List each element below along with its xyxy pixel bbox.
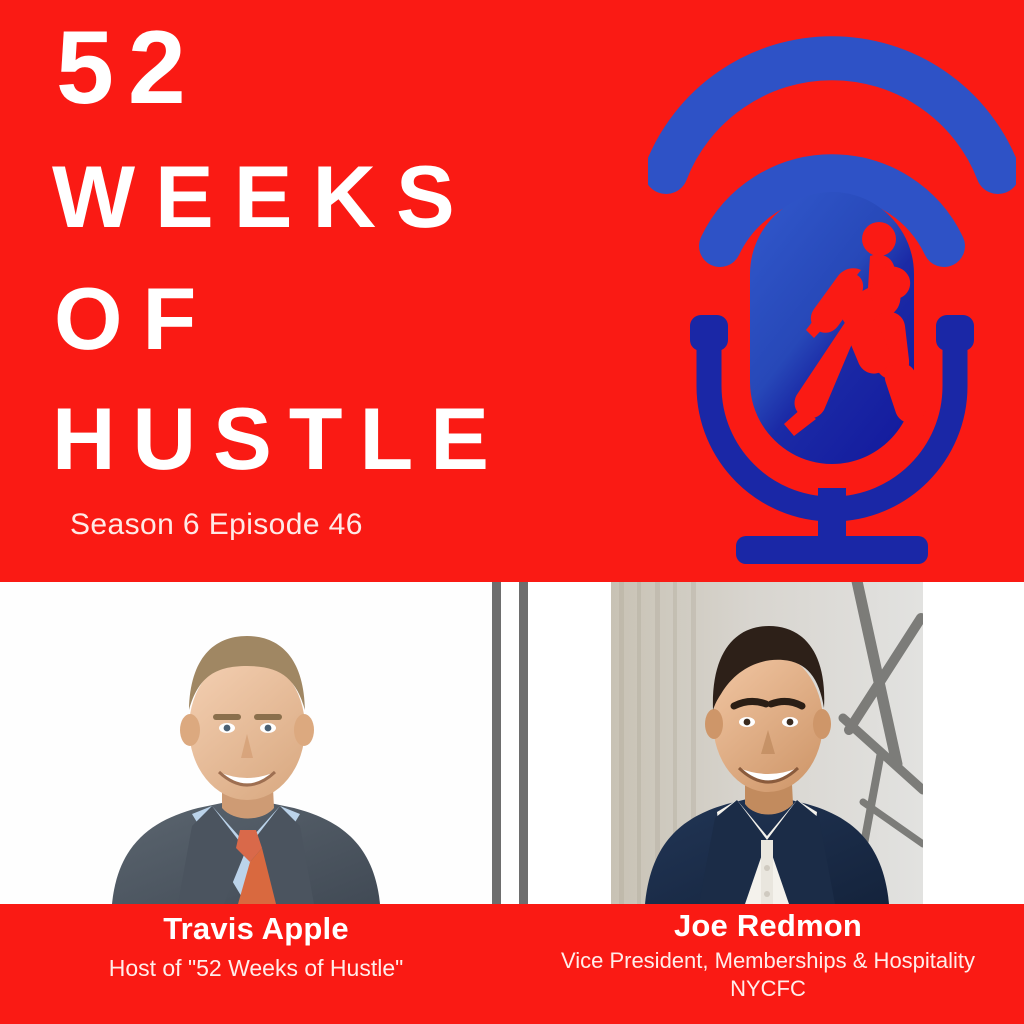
guest-role-right-line2: NYCFC — [512, 975, 1024, 1003]
title-line-52: 52 — [56, 18, 572, 120]
guest-name-left: Travis Apple — [0, 913, 512, 946]
title-line-of: OF — [54, 276, 572, 362]
mic-base — [736, 536, 928, 564]
podcast-logo — [648, 20, 1016, 572]
caption-travis-apple: Travis Apple Host of "52 Weeks of Hustle… — [0, 904, 512, 1024]
caption-joe-redmon: Joe Redmon Vice President, Memberships &… — [512, 904, 1024, 1024]
show-title-block: 52 WEEKS OF HUSTLE — [52, 18, 572, 483]
episode-label: Season 6 Episode 46 — [70, 508, 363, 542]
guest-role-left-line1: Host of "52 Weeks of Hustle" — [0, 954, 512, 983]
divider-bar-1 — [492, 582, 501, 904]
caption-bar: Travis Apple Host of "52 Weeks of Hustle… — [0, 904, 1024, 1024]
headshot-joe-redmon — [611, 582, 923, 904]
divider-bar-2 — [519, 582, 528, 904]
guest-role-right-line1: Vice President, Memberships & Hospitalit… — [512, 947, 1024, 975]
podcast-cover-art: 52 WEEKS OF HUSTLE Season 6 Episode 46 — [0, 0, 1024, 1024]
title-line-weeks: WEEKS — [52, 154, 572, 240]
title-line-hustle: HUSTLE — [52, 396, 572, 482]
guest-name-right: Joe Redmon — [512, 910, 1024, 943]
mic-stem — [818, 488, 846, 542]
photo-divider — [492, 582, 611, 904]
guest-photo-strip — [0, 582, 1024, 904]
headshot-travis-apple — [0, 582, 492, 904]
hero-panel: 52 WEEKS OF HUSTLE Season 6 Episode 46 — [0, 0, 1024, 582]
